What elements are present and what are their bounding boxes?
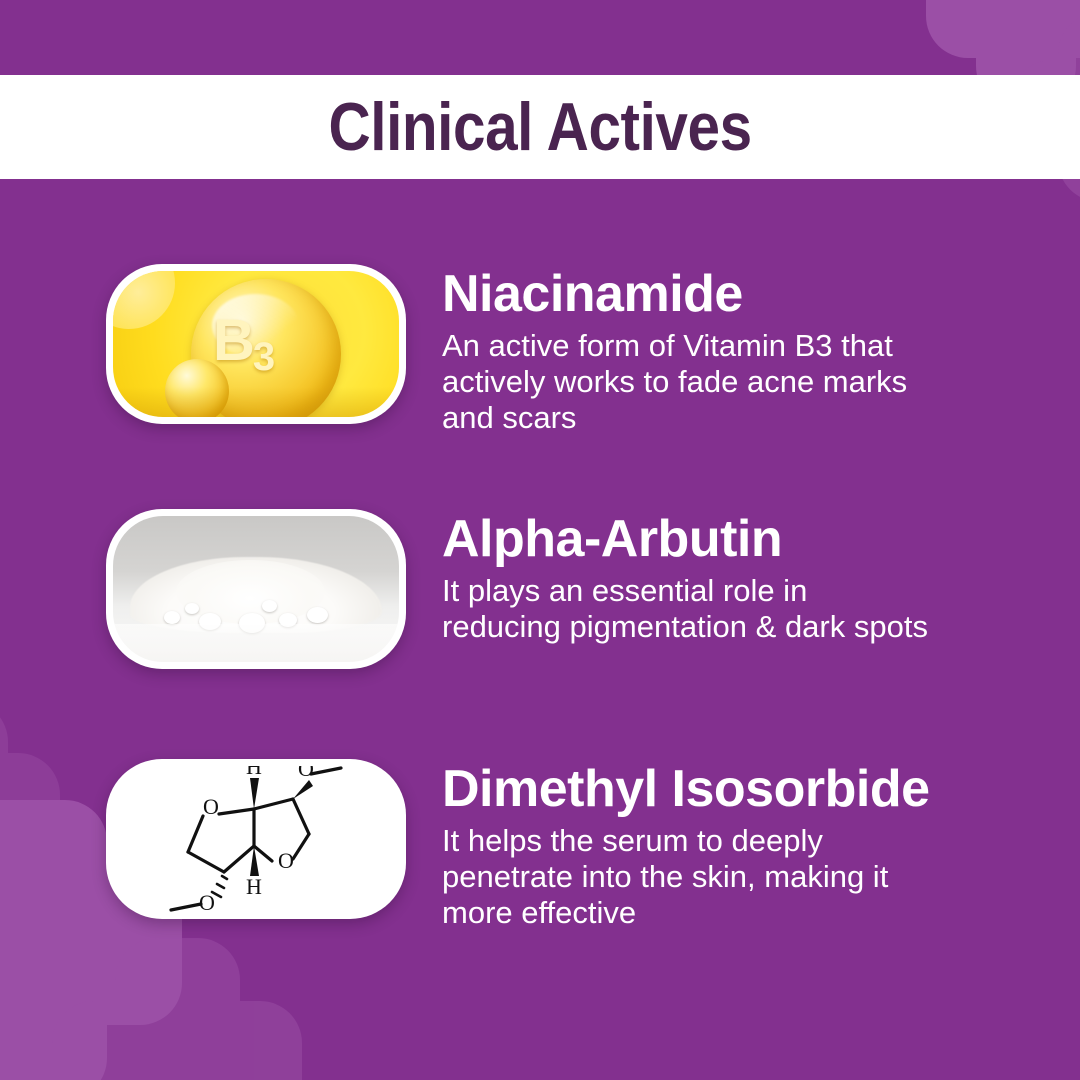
atom-label-o-right: O	[278, 848, 294, 873]
ingredient-list: B3 Niacinamide An active form of Vitamin…	[0, 179, 1080, 1080]
ingredient-text-block: Alpha-Arbutin It plays an essential role…	[442, 509, 928, 645]
ingredient-image-card: H O O O O H	[106, 759, 406, 919]
ingredient-image-card: B3	[106, 264, 406, 424]
atom-label-h-bottom: H	[246, 874, 262, 899]
atom-label-o-bottomleft: O	[199, 890, 215, 912]
header-band: Clinical Actives	[0, 75, 1080, 179]
ingredient-row-alpha-arbutin: Alpha-Arbutin It plays an essential role…	[0, 509, 1080, 669]
vitamin-b3-droplet-icon: B3	[113, 271, 399, 417]
ingredient-row-dimethyl-isosorbide: H O O O O H Dimethyl Isosorbide It helps…	[0, 759, 1080, 931]
ingredient-image-card	[106, 509, 406, 669]
ingredient-description: It plays an essential role in reducing p…	[442, 573, 928, 645]
vitamin-b3-label: B3	[213, 307, 273, 380]
ingredient-name: Dimethyl Isosorbide	[442, 763, 930, 815]
chemical-structure-icon: H O O O O H	[113, 766, 399, 912]
ingredient-description: It helps the serum to deeply penetrate i…	[442, 823, 930, 931]
white-powder-icon	[113, 516, 399, 662]
ingredient-name: Alpha-Arbutin	[442, 513, 928, 565]
ingredient-text-block: Niacinamide An active form of Vitamin B3…	[442, 264, 907, 436]
ingredient-description: An active form of Vitamin B3 that active…	[442, 328, 907, 436]
ingredient-row-niacinamide: B3 Niacinamide An active form of Vitamin…	[0, 264, 1080, 436]
atom-label-o-topright: O	[298, 766, 314, 781]
page-title: Clinical Actives	[328, 88, 751, 166]
ingredient-name: Niacinamide	[442, 268, 907, 320]
atom-label-h-top: H	[246, 766, 262, 779]
ingredient-text-block: Dimethyl Isosorbide It helps the serum t…	[442, 759, 930, 931]
atom-label-o-left: O	[203, 794, 219, 819]
